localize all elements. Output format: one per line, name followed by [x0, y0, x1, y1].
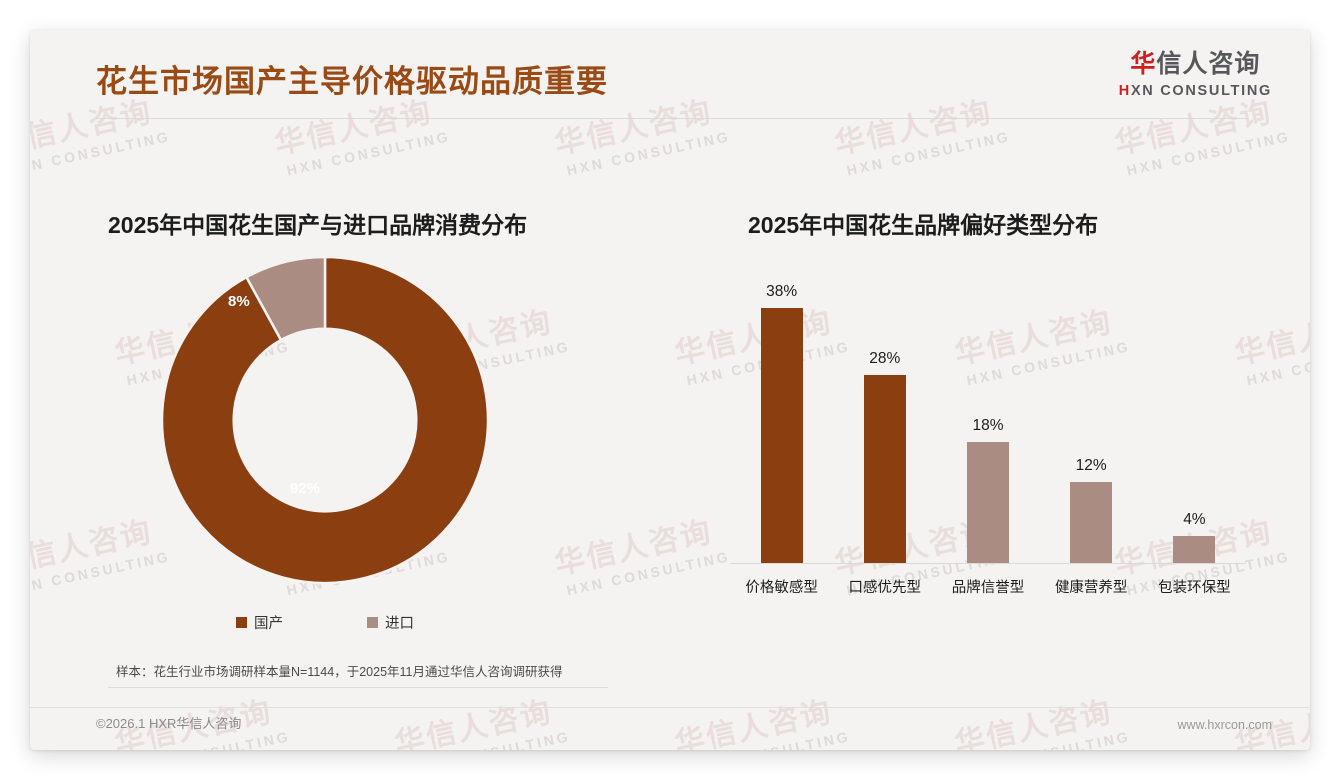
- logo-chinese-rest: 信人咨询: [1156, 50, 1260, 78]
- bar-value-label: 12%: [1076, 457, 1107, 475]
- slide-root: 华信人咨询HXN CONSULTING华信人咨询HXN CONSULTING华信…: [0, 0, 1340, 780]
- bar-category-label: 口感优先型: [849, 576, 922, 597]
- legend-swatch-icon: [367, 617, 378, 628]
- bar-口感优先型[interactable]: [864, 375, 906, 563]
- bar-category-label: 健康营养型: [1055, 576, 1128, 597]
- legend-item-国产[interactable]: 国产: [236, 612, 283, 633]
- sample-note: 样本：花生行业市场调研样本量N=1144，于2025年11月通过华信人咨询调研获…: [116, 661, 563, 680]
- bar-品牌信誉型[interactable]: [967, 442, 1009, 563]
- bar-健康营养型[interactable]: [1070, 482, 1112, 563]
- logo-english-text: HXN CONSULTING: [1119, 84, 1272, 99]
- brand-logo: 华信人咨询 HXN CONSULTING: [1119, 52, 1272, 99]
- bar-chart-title: 2025年中国花生品牌偏好类型分布: [748, 206, 1098, 240]
- bar-价格敏感型[interactable]: [761, 308, 803, 563]
- donut-slice-label-jinkou: 8%: [228, 293, 250, 310]
- donut-chart-title: 2025年中国花生国产与进口品牌消费分布: [108, 206, 527, 240]
- watermark: 华信人咨询HXN CONSULTING: [390, 684, 572, 750]
- charts-container: 2025年中国花生国产与进口品牌消费分布 92% 8% 国产进口 2025年中国…: [30, 122, 1310, 640]
- donut-chart: 92% 8%: [160, 255, 490, 585]
- logo-char-hua: 华: [1130, 50, 1156, 78]
- bar-category-label: 包装环保型: [1158, 576, 1231, 597]
- website-url: www.hxrcon.com: [1178, 718, 1272, 732]
- footer-divider: [30, 707, 1310, 708]
- sample-note-divider: [108, 687, 608, 688]
- copyright-text: ©2026.1 HXR华信人咨询: [96, 713, 241, 732]
- slide-card: 华信人咨询HXN CONSULTING华信人咨询HXN CONSULTING华信…: [30, 30, 1310, 750]
- bar-value-label: 4%: [1183, 511, 1205, 529]
- legend-item-label: 进口: [385, 612, 414, 633]
- legend-swatch-icon: [236, 617, 247, 628]
- donut-chart-svg: [160, 255, 490, 585]
- watermark: 华信人咨询HXN CONSULTING: [950, 684, 1132, 750]
- donut-slice-label-guochan: 92%: [290, 480, 320, 497]
- donut-chart-legend: 国产进口: [160, 612, 490, 633]
- bar-value-label: 38%: [766, 283, 797, 301]
- header-divider: [96, 118, 1248, 119]
- logo-en-accent: H: [1119, 83, 1131, 99]
- bar-category-label: 品牌信誉型: [952, 576, 1025, 597]
- bar-chart-axis-line: [730, 563, 1246, 564]
- bar-value-label: 18%: [972, 417, 1003, 435]
- page-title: 花生市场国产主导价格驱动品质重要: [96, 56, 608, 101]
- bar-category-label: 价格敏感型: [745, 576, 818, 597]
- slide-header: 花生市场国产主导价格驱动品质重要 华信人咨询 HXN CONSULTING: [30, 30, 1310, 122]
- legend-item-label: 国产: [254, 612, 283, 633]
- watermark: 华信人咨询HXN CONSULTING: [670, 684, 852, 750]
- legend-item-进口[interactable]: 进口: [367, 612, 414, 633]
- bar-包装环保型[interactable]: [1173, 536, 1215, 563]
- logo-chinese-text: 华信人咨询: [1119, 52, 1272, 77]
- bar-chart: 38%价格敏感型28%口感优先型18%品牌信誉型12%健康营养型4%包装环保型: [730, 272, 1246, 564]
- bar-value-label: 28%: [869, 350, 900, 368]
- logo-en-rest: XN CONSULTING: [1131, 83, 1272, 99]
